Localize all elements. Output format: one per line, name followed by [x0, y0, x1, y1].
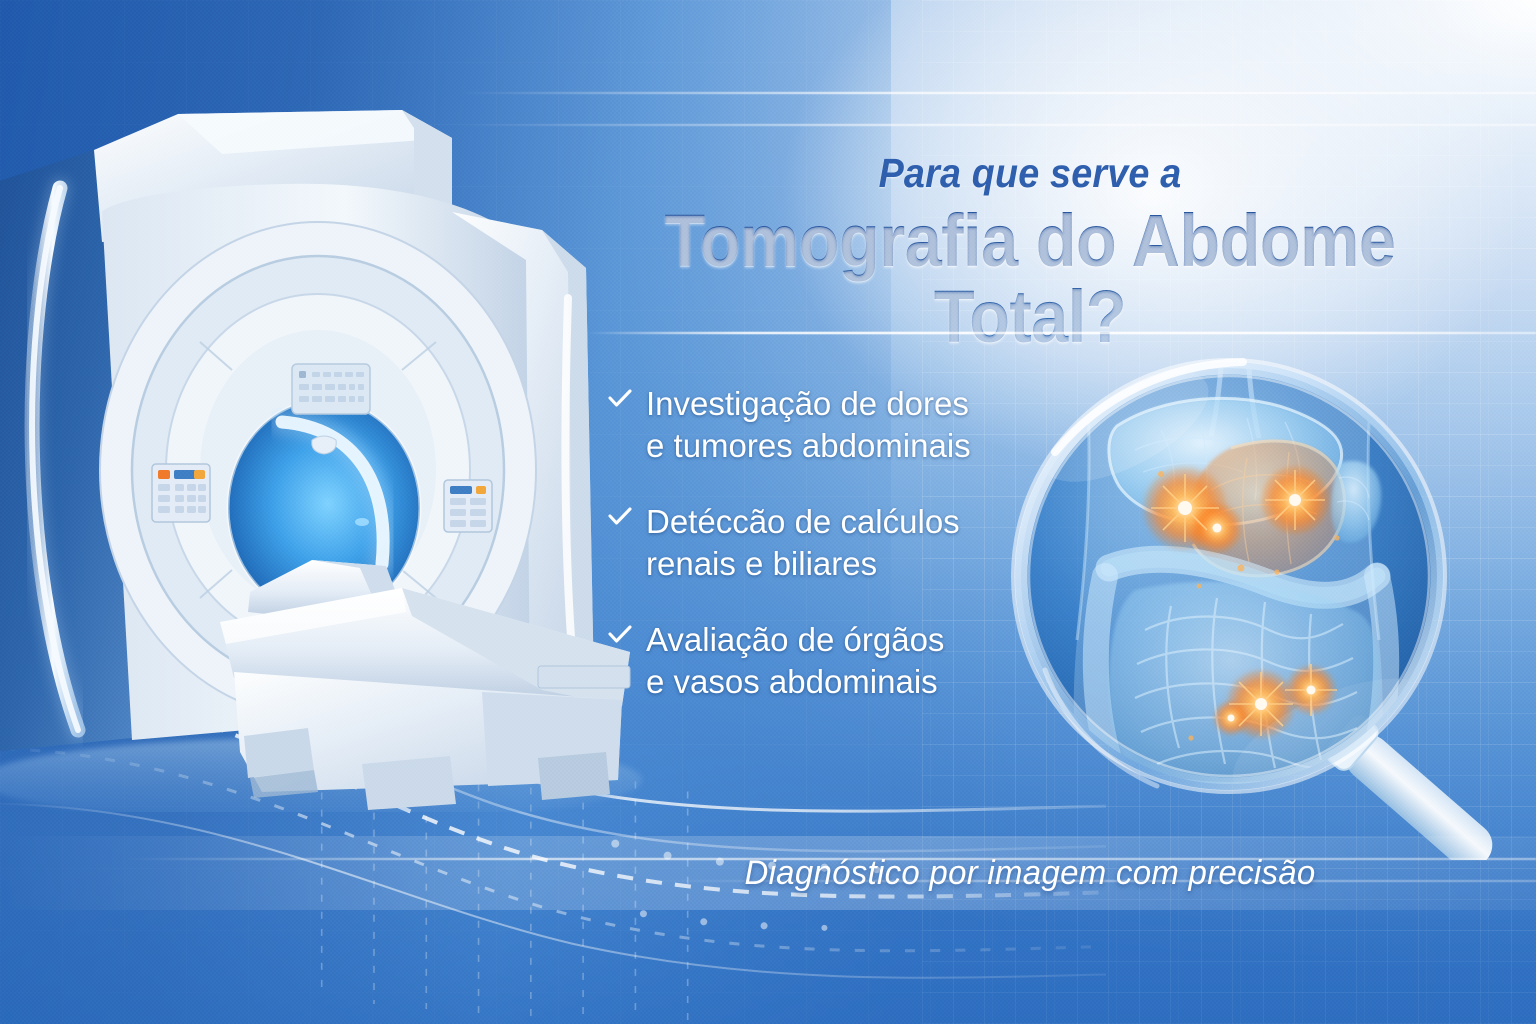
texture-overlay [0, 0, 1536, 1024]
poster-canvas: Para que serve a Tomografia do Abdome To… [0, 0, 1536, 1024]
